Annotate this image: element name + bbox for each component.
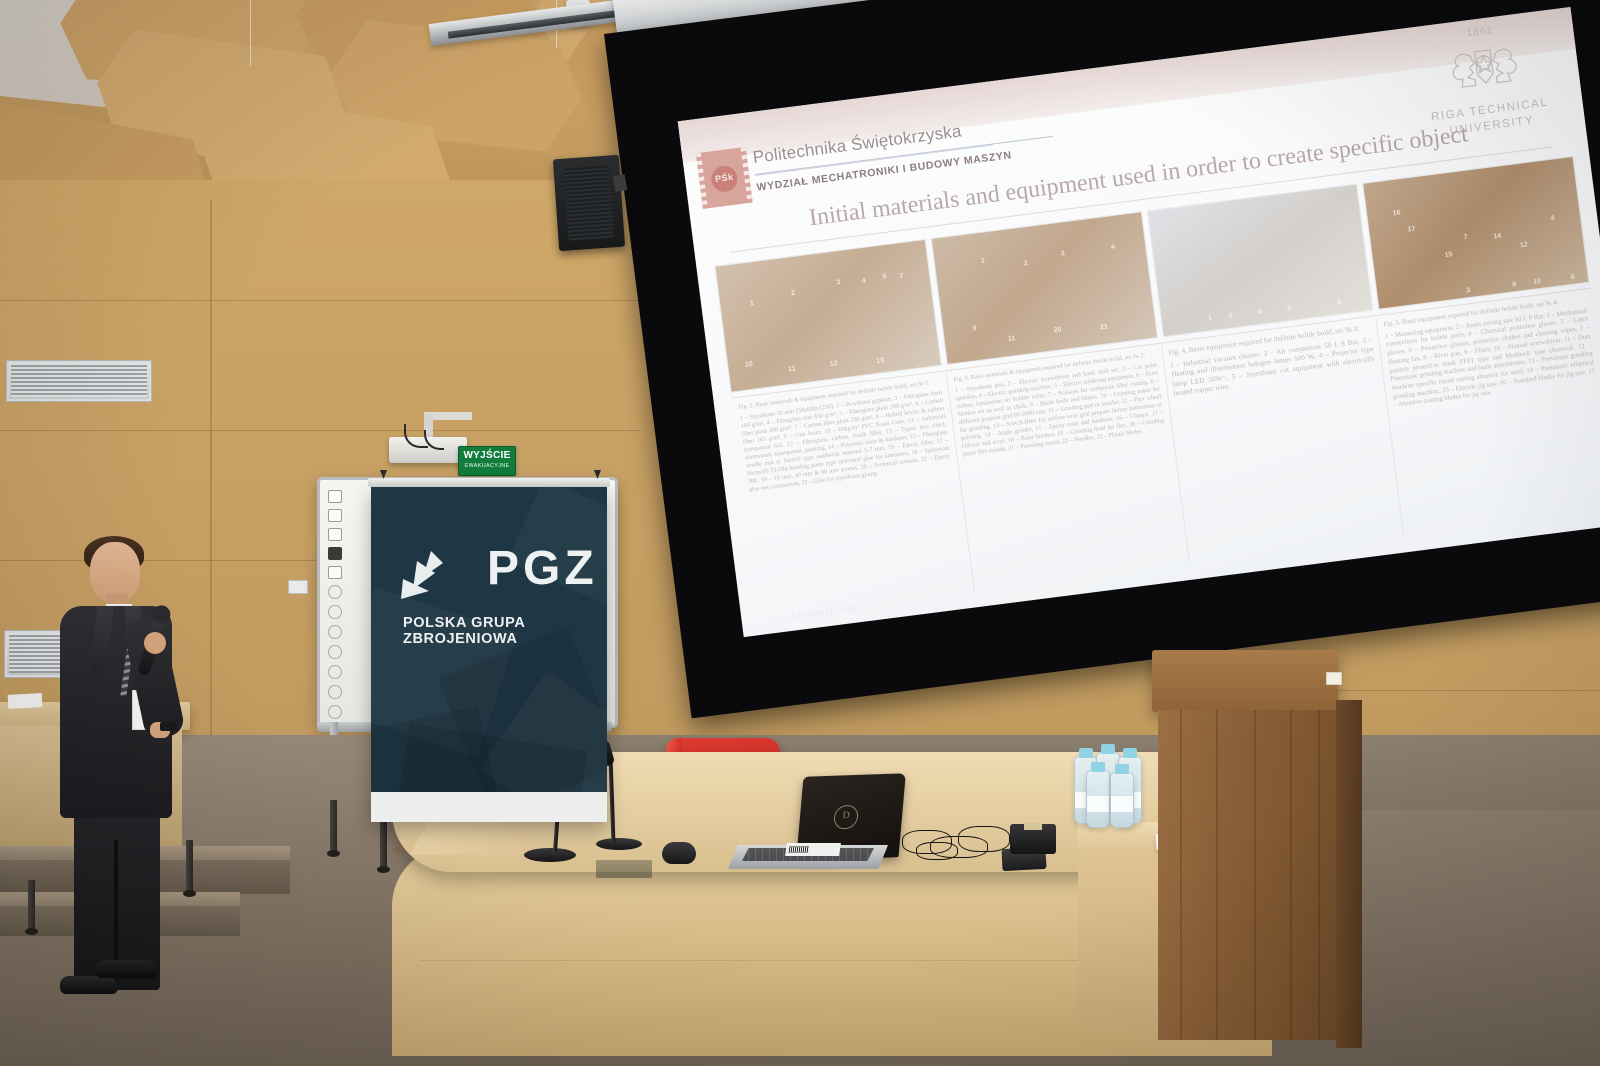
lectern-side-panel xyxy=(1336,700,1362,1048)
exit-sign-line1: WYJŚCIE xyxy=(459,450,515,461)
laptop-asset-sticker xyxy=(785,843,841,856)
gooseneck-mic-base xyxy=(524,848,576,862)
select-icon[interactable] xyxy=(328,566,342,579)
computer-mouse[interactable] xyxy=(662,842,696,864)
banner-top-rail xyxy=(368,478,610,487)
water-bottle[interactable] xyxy=(1110,772,1134,828)
lectern-body xyxy=(1158,710,1336,1040)
presenter-hand xyxy=(144,632,166,654)
presenter xyxy=(38,540,188,990)
banner-bottom-strip xyxy=(371,792,607,822)
rtu-crest-icon xyxy=(1422,31,1546,104)
line-icon[interactable] xyxy=(328,685,342,699)
undo-icon[interactable] xyxy=(328,665,342,679)
pgz-brand: PGZ xyxy=(487,545,598,593)
eraser-icon[interactable] xyxy=(328,585,342,599)
wall-speaker xyxy=(553,155,625,251)
caption-block-fig2: Fig. 2. Basic materials & equipment requ… xyxy=(732,373,974,619)
politechnika-swietokrzyska-logo: PŚk xyxy=(696,147,753,209)
pen-icon[interactable] xyxy=(328,605,342,619)
wall-panel-seam xyxy=(0,430,640,431)
lectern-label-tag xyxy=(1326,672,1342,685)
logo-text: PŚk xyxy=(702,170,747,186)
highlighter-icon[interactable] xyxy=(328,625,342,639)
caption-block-fig3: Fig. 3. Basic materials & equipment requ… xyxy=(946,346,1189,592)
presenter-shoe xyxy=(96,960,158,978)
presenter-head xyxy=(90,542,140,602)
ceiling-hanger-wire xyxy=(250,0,251,66)
caption-block-fig4: Fig. 4. Basic equipment required for def… xyxy=(1161,318,1404,564)
exit-sign-line2: EWAKUACYJNE xyxy=(459,463,515,469)
lecture-hall-photo: PŚk Politechnika Świętokrzyska WYDZIAŁ M… xyxy=(0,0,1600,1066)
copy-page-icon[interactable] xyxy=(328,509,342,522)
water-bottle[interactable] xyxy=(1086,770,1110,828)
page-icon[interactable] xyxy=(328,490,342,503)
figure-photo-5: 1617 714 124 153 910 6 xyxy=(1362,156,1589,310)
floor-right-area xyxy=(1330,810,1600,1066)
air-vent xyxy=(6,360,152,402)
stanchion-post xyxy=(28,880,35,930)
lectern-top xyxy=(1152,650,1338,712)
pgz-roll-up-banner: PGZ POLSKA GRUPA ZBROJENIOWA xyxy=(371,487,607,822)
presentation-clicker[interactable] xyxy=(160,722,176,731)
shape-icon[interactable] xyxy=(328,645,342,659)
emergency-exit-sign: WYJŚCIE EWAKUACYJNE xyxy=(458,446,516,476)
gooseneck-mic-base xyxy=(596,838,642,850)
wall-thermostat[interactable] xyxy=(288,580,308,594)
presenter-shoe xyxy=(60,976,118,994)
wall-panel-seam xyxy=(210,200,212,740)
new-page-icon[interactable] xyxy=(328,528,342,541)
wall-panel-seam xyxy=(0,300,640,301)
pgz-logo-mark-icon xyxy=(399,549,477,605)
pgz-tagline: POLSKA GRUPA ZBROJENIOWA xyxy=(403,615,607,647)
desk-pad xyxy=(596,860,652,878)
speaker-mount-arm xyxy=(613,174,628,192)
figure-photo-4: 12 45 6 xyxy=(1146,183,1373,337)
fill-color-icon[interactable] xyxy=(328,547,342,560)
whiteboard-toolbar[interactable] xyxy=(325,486,345,719)
projection-screen: PŚk Politechnika Świętokrzyska WYDZIAŁ M… xyxy=(604,0,1600,718)
caption-block-fig5: Fig. 5. Basic equipment required for def… xyxy=(1376,291,1600,537)
figure-photo-2: 12 34 57 1011 1213 xyxy=(714,239,941,393)
dell-logo-icon: D xyxy=(833,805,859,830)
settings-icon[interactable] xyxy=(328,705,342,719)
stanchion-post xyxy=(330,800,337,852)
figure-photo-3: 12 34 911 2021 xyxy=(930,211,1157,365)
card-holder xyxy=(1010,824,1056,854)
